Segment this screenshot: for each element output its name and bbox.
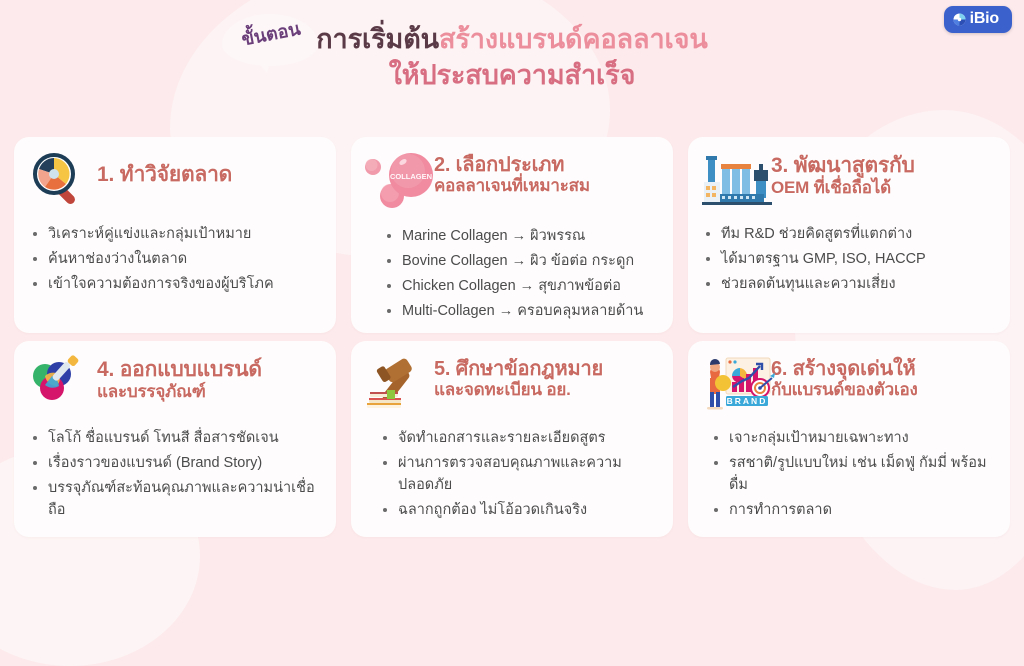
card-bullet-list: เจาะกลุ่มเป้าหมายเฉพาะทาง รสชาติ/รูปแบบใ…: [702, 427, 994, 524]
card-title: 5. ศึกษาข้อกฎหมาย: [434, 358, 603, 380]
ibio-logo[interactable]: iBio: [944, 6, 1012, 33]
list-item: Chicken Collagen → สุขภาพข้อต่อ: [385, 275, 657, 297]
logo-text: iBio: [970, 11, 999, 27]
step-card-6[interactable]: BRAND 6. สร้างจุดเด่นให้ กับแบรนด์ของตัว…: [688, 341, 1010, 537]
card-header: 4. ออกแบบแบรนด์ และบรรจุภัณฑ์: [28, 354, 320, 416]
list-item: รสชาติ/รูปแบบใหม่ เช่น เม็ดฟู่ กัมมี่ พร…: [712, 452, 994, 496]
globe-circle-icon: [953, 13, 966, 26]
card-header: BRAND 6. สร้างจุดเด่นให้ กับแบรนด์ของตัว…: [702, 354, 994, 416]
collagen-pills-icon: COLLAGEN: [365, 150, 427, 210]
page-title-part-2: สร้างแบรนด์คอลลาเจน: [439, 24, 708, 54]
card-subtitle: กับแบรนด์ของตัวเอง: [771, 380, 918, 399]
list-item: ช่วยลดต้นทุนและความเสี่ยง: [704, 273, 994, 295]
gavel-books-icon: [365, 354, 427, 414]
magnifying-glass-pie-chart-icon: [28, 150, 90, 210]
card-title-group: 3. พัฒนาสูตรกับ OEM ที่เชื่อถือได้: [771, 150, 994, 198]
list-item: วิเคราะห์คู่แข่งและกลุ่มเป้าหมาย: [31, 223, 320, 245]
list-item: บรรจุภัณฑ์สะท้อนคุณภาพและความน่าเชื่อถือ: [31, 477, 320, 521]
step-card-3[interactable]: 3. พัฒนาสูตรกับ OEM ที่เชื่อถือได้ ทีม R…: [688, 137, 1010, 333]
step-card-4[interactable]: 4. ออกแบบแบรนด์ และบรรจุภัณฑ์ โลโก้ ชื่อ…: [14, 341, 336, 537]
page-header: ขั้นตอน การเริ่มต้นสร้างแบรนด์คอลลาเจน ใ…: [0, 0, 1024, 93]
list-item: ค้นหาช่องว่างในตลาด: [31, 248, 320, 270]
list-item: เรื่องราวของแบรนด์ (Brand Story): [31, 452, 320, 474]
card-title-group: 4. ออกแบบแบรนด์ และบรรจุภัณฑ์: [97, 354, 320, 402]
list-item: ทีม R&D ช่วยคิดสูตรที่แตกต่าง: [704, 223, 994, 245]
list-item: Bovine Collagen → ผิว ข้อต่อ กระดูก: [385, 250, 657, 272]
steps-grid: 1. ทำวิจัยตลาด วิเคราะห์คู่แข่งและกลุ่มเ…: [14, 137, 1010, 537]
page-title-part-1: การเริ่มต้น: [316, 24, 439, 54]
card-bullet-list: จัดทำเอกสารและรายละเอียดสูตร ผ่านการตรวจ…: [365, 427, 657, 524]
svg-text:COLLAGEN: COLLAGEN: [390, 172, 432, 181]
list-item: ผ่านการตรวจสอบคุณภาพและความปลอดภัย: [381, 452, 657, 496]
list-item: จัดทำเอกสารและรายละเอียดสูตร: [381, 427, 657, 449]
card-title-group: 2. เลือกประเภท คอลลาเจนที่เหมาะสม: [434, 150, 657, 197]
card-title: 4. ออกแบบแบรนด์: [97, 358, 262, 381]
card-subtitle: OEM ที่เชื่อถือได้: [771, 178, 891, 197]
page-title-line-1: การเริ่มต้นสร้างแบรนด์คอลลาเจน: [0, 22, 1024, 58]
card-bullet-list: Marine Collagen → ผิวพรรณ Bovine Collage…: [365, 225, 657, 325]
factory-icon: [702, 150, 764, 210]
step-card-5[interactable]: 5. ศึกษาข้อกฎหมาย และจดทะเบียน อย. จัดทำ…: [351, 341, 673, 537]
page-title-line-2: ให้ประสบความสำเร็จ: [0, 58, 1024, 94]
list-item: ฉลากถูกต้อง ไม่โอ้อวดเกินจริง: [381, 499, 657, 521]
color-palette-eyedropper-icon: [28, 354, 90, 414]
card-bullet-list: โลโก้ ชื่อแบรนด์ โทนสี สื่อสารชัดเจน เรื…: [28, 427, 320, 524]
step-card-1[interactable]: 1. ทำวิจัยตลาด วิเคราะห์คู่แข่งและกลุ่มเ…: [14, 137, 336, 333]
card-header: 5. ศึกษาข้อกฎหมาย และจดทะเบียน อย.: [365, 354, 657, 416]
list-item: โลโก้ ชื่อแบรนด์ โทนสี สื่อสารชัดเจน: [31, 427, 320, 449]
card-title: 3. พัฒนาสูตรกับ: [771, 154, 915, 177]
list-item: เจาะกลุ่มเป้าหมายเฉพาะทาง: [712, 427, 994, 449]
list-item: ได้มาตรฐาน GMP, ISO, HACCP: [704, 248, 994, 270]
list-item: Multi-Collagen → ครอบคลุมหลายด้าน: [385, 300, 657, 322]
card-header: 3. พัฒนาสูตรกับ OEM ที่เชื่อถือได้: [702, 150, 994, 212]
card-title: 1. ทำวิจัยตลาด: [97, 163, 232, 186]
card-title-group: 1. ทำวิจัยตลาด: [97, 150, 320, 187]
brand-growth-chart-icon: BRAND: [702, 354, 764, 414]
card-subtitle: คอลลาเจนที่เหมาะสม: [434, 176, 590, 195]
card-bullet-list: ทีม R&D ช่วยคิดสูตรที่แตกต่าง ได้มาตรฐาน…: [702, 223, 994, 298]
card-title: 6. สร้างจุดเด่นให้: [771, 358, 916, 380]
step-badge: ขั้นตอน: [222, 14, 318, 66]
card-title: 2. เลือกประเภท: [434, 154, 564, 176]
card-subtitle: และบรรจุภัณฑ์: [97, 382, 206, 401]
list-item: Marine Collagen → ผิวพรรณ: [385, 225, 657, 247]
card-subtitle: และจดทะเบียน อย.: [434, 380, 571, 399]
step-card-2[interactable]: COLLAGEN 2. เลือกประเภท คอลลาเจนที่เหมาะ…: [351, 137, 673, 333]
list-item: เข้าใจความต้องการจริงของผู้บริโภค: [31, 273, 320, 295]
card-header: COLLAGEN 2. เลือกประเภท คอลลาเจนที่เหมาะ…: [365, 150, 657, 212]
card-header: 1. ทำวิจัยตลาด: [28, 150, 320, 212]
card-title-group: 5. ศึกษาข้อกฎหมาย และจดทะเบียน อย.: [434, 354, 657, 401]
svg-text:BRAND: BRAND: [727, 396, 768, 406]
card-bullet-list: วิเคราะห์คู่แข่งและกลุ่มเป้าหมาย ค้นหาช่…: [28, 223, 320, 298]
list-item: การทำการตลาด: [712, 499, 994, 521]
card-title-group: 6. สร้างจุดเด่นให้ กับแบรนด์ของตัวเอง: [771, 354, 994, 401]
